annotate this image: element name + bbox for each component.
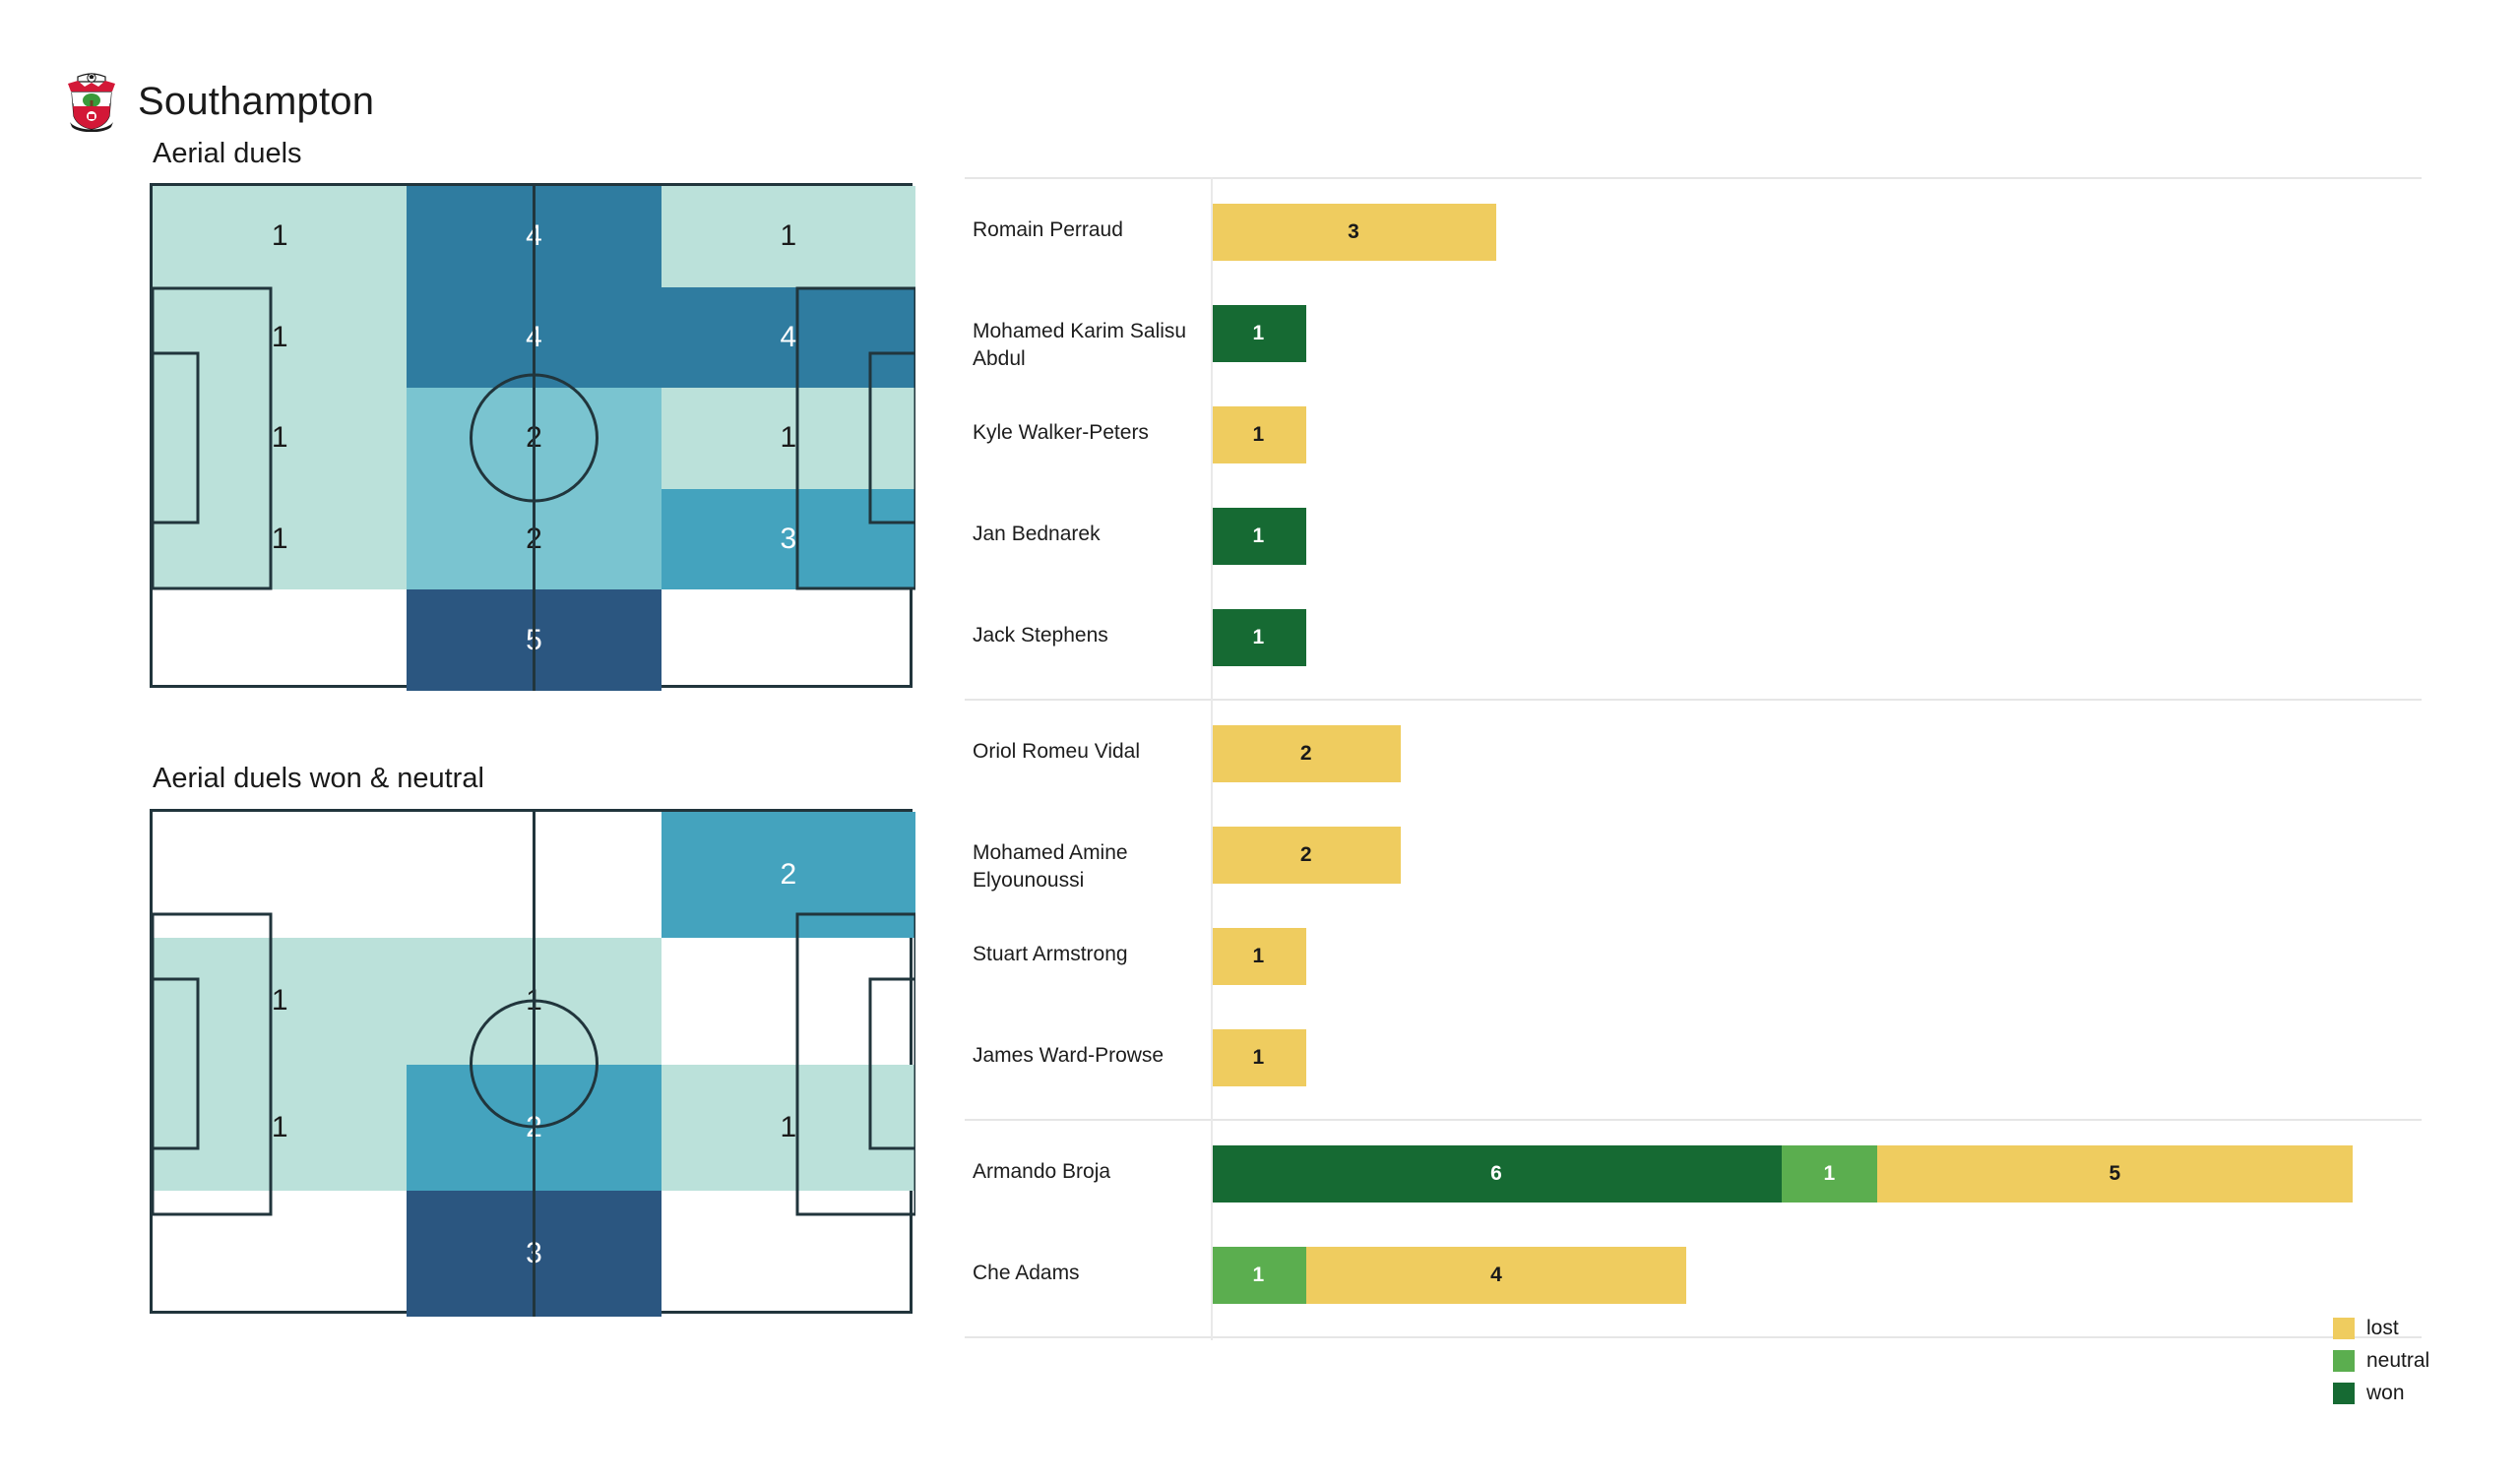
legend-swatch-lost <box>2333 1318 2355 1339</box>
player-bar[interactable]: 1 <box>1211 928 1306 985</box>
team-name: Southampton <box>138 80 374 124</box>
group-separator <box>965 699 2422 701</box>
group-separator <box>965 1336 2422 1338</box>
player-bar[interactable]: 1 <box>1211 609 1306 666</box>
legend-item-lost[interactable]: lost <box>2333 1317 2429 1340</box>
heatmap-cell: 1 <box>153 938 407 1064</box>
heatmap-cell: 1 <box>153 1065 407 1191</box>
heatmap-cell: 1 <box>153 186 407 287</box>
bar-segment-lost[interactable]: 2 <box>1211 827 1401 884</box>
player-bar[interactable]: 3 <box>1211 204 1496 261</box>
bar-segment-lost[interactable]: 1 <box>1211 406 1306 463</box>
bar-segment-lost[interactable]: 4 <box>1306 1247 1687 1304</box>
player-name-label: James Ward-Prowse <box>973 1042 1199 1070</box>
legend-swatch-won <box>2333 1383 2355 1404</box>
bar-segment-neutral[interactable]: 1 <box>1211 1247 1306 1304</box>
legend-item-won[interactable]: won <box>2333 1382 2429 1405</box>
bar-segment-lost[interactable]: 1 <box>1211 928 1306 985</box>
heatmap-cell: 4 <box>661 287 915 389</box>
pitch-aerial-duels: 5321121441141 <box>150 183 913 688</box>
player-name-label: Mohamed Karim Salisu Abdul <box>973 318 1199 374</box>
player-bar[interactable]: 2 <box>1211 725 1401 782</box>
pitch-title-aerial-duels: Aerial duels <box>153 138 302 170</box>
legend-label-lost: lost <box>2366 1317 2399 1340</box>
group-separator <box>965 177 2422 179</box>
bar-segment-lost[interactable]: 3 <box>1211 204 1496 261</box>
bar-segment-won[interactable]: 1 <box>1211 305 1306 362</box>
bar-segment-lost[interactable]: 2 <box>1211 725 1401 782</box>
heatmap-cell: 1 <box>661 388 915 489</box>
heatmap-cell: 2 <box>407 1065 661 1191</box>
pitch-aerial-duels-won-neutral: 3121112 <box>150 809 913 1314</box>
bar-segment-lost[interactable]: 1 <box>1211 1029 1306 1086</box>
bar-segment-lost[interactable]: 5 <box>1877 1145 2353 1202</box>
player-name-label: Jack Stephens <box>973 622 1199 649</box>
heatmap-cell: 2 <box>407 489 661 590</box>
player-bar[interactable]: 1 <box>1211 1029 1306 1086</box>
player-name-label: Jan Bednarek <box>973 521 1199 548</box>
heatmap-cell: 3 <box>407 1191 661 1317</box>
heatmap-cell: 2 <box>661 812 915 938</box>
player-bar[interactable]: 2 <box>1211 827 1401 884</box>
pitch-title-aerial-duels-won-neutral: Aerial duels won & neutral <box>153 763 484 795</box>
heatmap-cell: 2 <box>407 388 661 489</box>
player-bar[interactable]: 1 <box>1211 305 1306 362</box>
heatmap-cell: 4 <box>407 287 661 389</box>
legend-label-won: won <box>2366 1382 2405 1405</box>
player-name-label: Stuart Armstrong <box>973 941 1199 968</box>
chart-legend: lostneutralwon <box>2333 1317 2429 1414</box>
heatmap-cell: 1 <box>153 489 407 590</box>
legend-swatch-neutral <box>2333 1350 2355 1372</box>
player-name-label: Armando Broja <box>973 1158 1199 1186</box>
player-name-label: Kyle Walker-Peters <box>973 419 1199 447</box>
heatmap-cell: 1 <box>153 388 407 489</box>
bar-segment-won[interactable]: 1 <box>1211 609 1306 666</box>
player-bar[interactable]: 615 <box>1211 1145 2353 1202</box>
bar-segment-neutral[interactable]: 1 <box>1782 1145 1877 1202</box>
group-separator <box>965 1119 2422 1121</box>
player-name-label: Che Adams <box>973 1260 1199 1287</box>
category-axis-line <box>1211 177 1213 1340</box>
bar-segment-won[interactable]: 6 <box>1211 1145 1782 1202</box>
heatmap-cell: 4 <box>407 186 661 287</box>
player-name-label: Mohamed Amine Elyounoussi <box>973 839 1199 895</box>
southampton-crest-icon <box>63 71 120 132</box>
heatmap-cell: 1 <box>661 1065 915 1191</box>
heatmap-cell: 1 <box>153 287 407 389</box>
player-bar[interactable]: 14 <box>1211 1247 1686 1304</box>
team-header: Southampton <box>63 71 374 132</box>
player-bar[interactable]: 1 <box>1211 508 1306 565</box>
legend-item-neutral[interactable]: neutral <box>2333 1349 2429 1373</box>
bar-segment-won[interactable]: 1 <box>1211 508 1306 565</box>
heatmap-cell: 5 <box>407 589 661 691</box>
heatmap-cell: 1 <box>407 938 661 1064</box>
heatmap-cell: 1 <box>661 186 915 287</box>
legend-label-neutral: neutral <box>2366 1349 2429 1373</box>
heatmap-cell: 3 <box>661 489 915 590</box>
aerial-duels-bar-chart: Romain Perraud3Mohamed Karim Salisu Abdu… <box>965 177 2422 1319</box>
player-name-label: Oriol Romeu Vidal <box>973 738 1199 766</box>
player-name-label: Romain Perraud <box>973 216 1199 244</box>
player-bar[interactable]: 1 <box>1211 406 1306 463</box>
